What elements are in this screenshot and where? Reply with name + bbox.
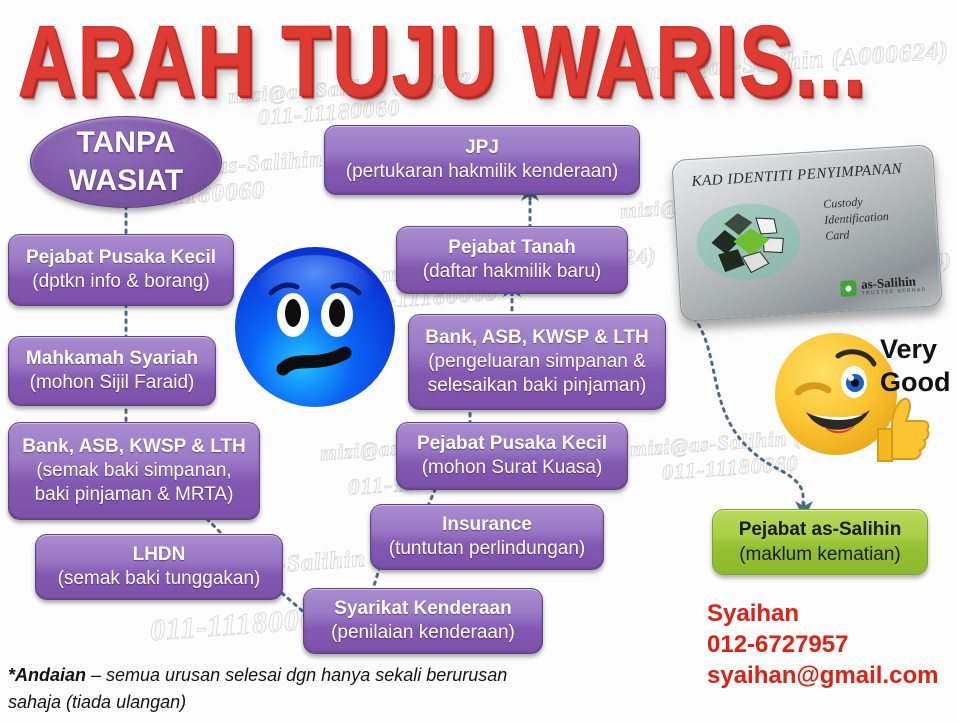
node-title: JPJ [465, 136, 499, 160]
node-pejabat-pusaka-kecil-center[interactable]: Pejabat Pusaka Kecil (mohon Surat Kuasa) [396, 422, 628, 490]
node-bank-asb-kwsp-lth-left[interactable]: Bank, ASB, KWSP & LTH (semak baki simpan… [8, 422, 260, 520]
very-good-line2: Good [880, 366, 950, 399]
very-good-label: Very Good [880, 333, 950, 399]
node-title: LHDN [133, 543, 186, 567]
card-subtitle: Custody Identification Card [823, 190, 922, 244]
start-node-line2: WASIAT [69, 162, 183, 200]
node-pejabat-tanah[interactable]: Pejabat Tanah (daftar hakmilik baru) [396, 226, 628, 294]
node-title: Syarikat Kenderaan [334, 597, 511, 621]
node-detail: (mohon Surat Kuasa) [422, 456, 603, 480]
card-brand: as-Salihin TRUSTEE BERHAD [840, 274, 927, 298]
node-pejabat-pusaka-kecil-left[interactable]: Pejabat Pusaka Kecil (dptkn info & boran… [8, 234, 234, 306]
node-detail: (pertukaran hakmilik kenderaan) [346, 160, 618, 184]
footnote: *Andaian – semua urusan selesai dgn hany… [8, 662, 528, 716]
footnote-label: *Andaian [8, 665, 86, 685]
node-detail-2: selesaikan baki pinjaman) [428, 374, 647, 398]
start-node-tanpa-wasiat[interactable]: TANPA WASIAT [30, 116, 222, 208]
node-title: Pejabat as-Salihin [739, 517, 902, 542]
as-salihin-mark-icon [840, 280, 857, 297]
node-detail: (dptkn info & borang) [32, 270, 209, 294]
node-lhdn[interactable]: LHDN (semak baki tunggakan) [35, 534, 283, 600]
contact-block: Syaihan 012-6727957 syaihan@gmail.com [707, 598, 938, 691]
node-detail: (mohon Sijil Faraid) [30, 371, 195, 395]
node-detail: (semak baki simpanan, [36, 459, 231, 483]
node-detail: (semak baki tunggakan) [58, 567, 261, 591]
node-detail: (pengeluaran simpanan & [428, 350, 646, 374]
node-detail-2: baki pinjaman & MRTA) [35, 483, 234, 507]
star-logo-icon [691, 197, 806, 286]
node-detail: (maklum kematian) [739, 542, 901, 567]
node-title: Insurance [442, 513, 532, 537]
node-title: Mahkamah Syariah [26, 347, 198, 371]
node-detail: (penilaian kenderaan) [331, 621, 515, 645]
node-mahkamah-syariah[interactable]: Mahkamah Syariah (mohon Sijil Faraid) [8, 336, 216, 406]
node-bank-asb-kwsp-lth-center[interactable]: Bank, ASB, KWSP & LTH (pengeluaran simpa… [408, 314, 666, 410]
node-title: Pejabat Pusaka Kecil [26, 246, 216, 270]
very-good-line1: Very [880, 333, 950, 366]
start-node-line1: TANPA [77, 124, 176, 162]
node-title: Pejabat Pusaka Kecil [417, 432, 607, 456]
contact-name: Syaihan [707, 598, 938, 629]
card-face: KAD IDENTITI PENYIMPANAN Custody Identif… [671, 144, 942, 322]
thumbs-up-icon [872, 395, 934, 467]
page-title: ARAH TUJU WARIS... [18, 8, 867, 116]
kad-identiti-penyimpanan-card: KAD IDENTITI PENYIMPANAN Custody Identif… [671, 144, 942, 322]
node-title: Bank, ASB, KWSP & LTH [22, 435, 245, 459]
infographic-canvas: mizi@as-Salihin (A000624) 011-11180060 m… [0, 0, 959, 722]
node-insurance[interactable]: Insurance (tuntutan perlindungan) [370, 504, 604, 570]
card-title: KAD IDENTITI PENYIMPANAN [691, 161, 903, 191]
node-title: Bank, ASB, KWSP & LTH [425, 326, 648, 350]
contact-email[interactable]: syaihan@gmail.com [707, 660, 938, 691]
node-jpj[interactable]: JPJ (pertukaran hakmilik kenderaan) [324, 125, 640, 195]
sad-blue-emoji-icon [231, 243, 399, 411]
node-pejabat-as-salihin[interactable]: Pejabat as-Salihin (maklum kematian) [712, 509, 928, 575]
node-detail: (tuntutan perlindungan) [389, 537, 585, 561]
page-title-text: ARAH TUJU WARIS... [18, 6, 867, 117]
node-title: Pejabat Tanah [448, 236, 575, 260]
contact-phone[interactable]: 012-6727957 [707, 629, 938, 660]
node-syarikat-kenderaan[interactable]: Syarikat Kenderaan (penilaian kenderaan) [303, 588, 543, 654]
node-detail: (daftar hakmilik baru) [423, 260, 601, 284]
